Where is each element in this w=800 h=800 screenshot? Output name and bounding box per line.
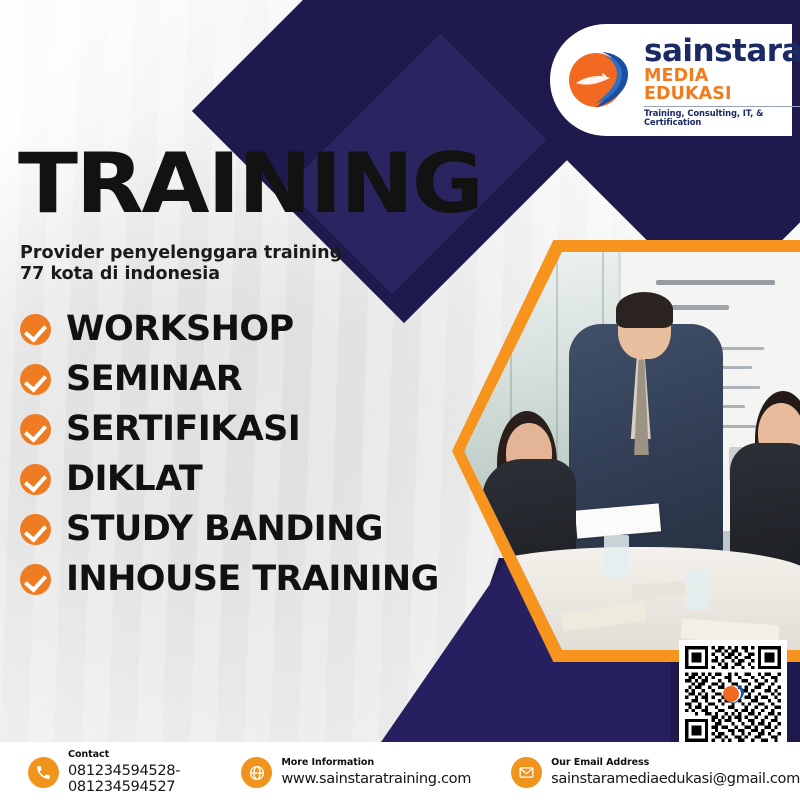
check-circle-icon (20, 314, 51, 345)
whiteboard-subheading-line (671, 305, 729, 310)
contact-phone-block[interactable]: Contact 081234594528-081234594527 (28, 750, 197, 795)
contact-value: 081234594528-081234594527 (68, 763, 197, 796)
list-item: DIKLAT (20, 462, 439, 497)
list-item-label: WORKSHOP (66, 312, 294, 347)
list-item: STUDY BANDING (20, 512, 439, 547)
logo-brand-name: sainstara (644, 36, 800, 67)
whiteboard-heading-line (656, 280, 776, 285)
footer-contact-bar: Contact 081234594528-081234594527 More I… (0, 745, 800, 800)
qr-code[interactable] (679, 640, 787, 748)
contact-email-block[interactable]: Our Email Address sainstaramediaedukasi@… (511, 757, 800, 788)
contact-text-group: Our Email Address sainstaramediaedukasi@… (551, 758, 800, 787)
list-item-label: INHOUSE TRAINING (66, 562, 439, 597)
contact-text-group: Contact 081234594528-081234594527 (68, 750, 197, 795)
contact-label: Our Email Address (551, 758, 800, 769)
photo-water-glass (604, 535, 629, 579)
page-title: TRAINING (18, 148, 482, 219)
envelope-icon (511, 757, 542, 788)
poster-canvas: sainstara MEDIA EDUKASI Training, Consul… (0, 0, 800, 800)
check-circle-icon (20, 514, 51, 545)
brand-logo: sainstara MEDIA EDUKASI Training, Consul… (550, 24, 792, 136)
logo-text-group: sainstara MEDIA EDUKASI Training, Consul… (644, 34, 800, 126)
phone-icon (28, 757, 59, 788)
check-circle-icon (20, 464, 51, 495)
check-circle-icon (20, 564, 51, 595)
list-item-label: DIKLAT (66, 462, 202, 497)
qr-code-pattern (685, 646, 781, 742)
list-item: SERTIFIKASI (20, 412, 439, 447)
flame-swoosh-logo-icon (562, 43, 636, 117)
page-subtitle: Provider penyelenggara training 77 kota … (20, 243, 350, 284)
contact-value: sainstaramediaedukasi@gmail.com (551, 771, 800, 787)
logo-mark-icon (722, 683, 744, 705)
contact-value: www.sainstaratraining.com (281, 771, 471, 787)
contact-text-group: More Information www.sainstaratraining.c… (281, 758, 471, 787)
service-checklist: WORKSHOP SEMINAR SERTIFIKASI DIKLAT STUD… (20, 312, 439, 597)
list-item-label: SEMINAR (66, 362, 242, 397)
check-circle-icon (20, 364, 51, 395)
list-item-label: STUDY BANDING (66, 512, 383, 547)
globe-icon (241, 757, 272, 788)
list-item: INHOUSE TRAINING (20, 562, 439, 597)
photo-presenter-hair (616, 292, 673, 328)
list-item: WORKSHOP (20, 312, 439, 347)
contact-label: Contact (68, 750, 197, 761)
logo-brand-subtitle: MEDIA EDUKASI (644, 68, 800, 103)
list-item: SEMINAR (20, 362, 439, 397)
photo-water-glass (685, 570, 710, 610)
list-item-label: SERTIFIKASI (66, 412, 300, 447)
contact-website-block[interactable]: More Information www.sainstaratraining.c… (241, 757, 471, 788)
contact-label: More Information (281, 758, 471, 769)
logo-tagline: Training, Consulting, IT, & Certificatio… (644, 106, 800, 126)
check-circle-icon (20, 414, 51, 445)
